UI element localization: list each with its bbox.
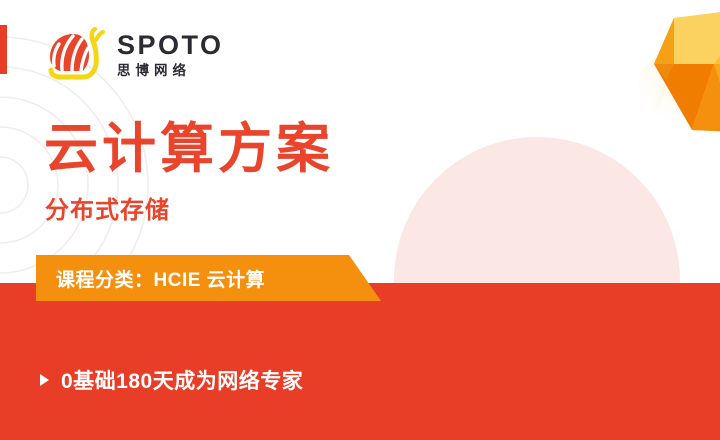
orange-diamond-decoration <box>636 2 720 132</box>
tagline-text: 0基础180天成为网络专家 <box>61 365 303 395</box>
brand-wordmark-chinese: 思博网络 <box>117 64 224 78</box>
spoto-snail-logo-icon <box>43 26 107 82</box>
left-accent-bar <box>0 25 7 74</box>
page-subtitle: 分布式存储 <box>45 198 170 224</box>
category-banner: 课程分类：HCIE 云计算 <box>36 255 381 301</box>
brand-logo: SPOTO 思博网络 <box>43 26 224 82</box>
brand-wordmark-latin: SPOTO <box>117 32 224 59</box>
course-banner: SPOTO 思博网络 云计算方案 分布式存储 课程分类：HCIE 云计算 0基础… <box>0 0 720 440</box>
pink-circle-decoration <box>394 137 680 284</box>
brand-wordmark: SPOTO 思博网络 <box>117 30 224 78</box>
category-banner-label: 课程分类：HCIE 云计算 <box>56 255 265 301</box>
page-title: 云计算方案 <box>44 120 334 179</box>
background-bottom-red <box>0 283 720 440</box>
tagline: 0基础180天成为网络专家 <box>40 365 303 395</box>
triangle-right-icon <box>40 374 49 386</box>
